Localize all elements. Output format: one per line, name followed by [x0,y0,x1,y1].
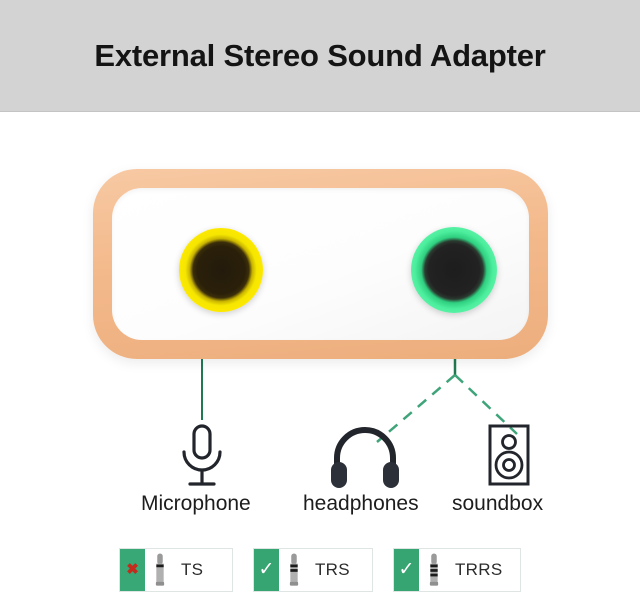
plug-trs-icon [279,549,309,591]
plug-compatibility-legend: ✖ TS ✓ TRS [0,541,640,598]
adapter-front-panel [112,188,529,340]
status-mark-ts: ✖ [120,549,145,591]
plug-ts-icon [145,549,175,591]
audio-output-jack-port [411,227,497,313]
plug-trrs-icon [419,549,449,591]
check-icon: ✓ [259,560,275,579]
legend-item-trs[interactable]: ✓ TRS [253,548,373,592]
legend-item-ts[interactable]: ✖ TS [119,548,233,592]
microphone-icon [162,422,242,492]
legend-item-trrs[interactable]: ✓ TRRS [393,548,521,592]
device-label-headphones: headphones [303,492,419,516]
sound-adapter-device [93,169,548,359]
cross-icon: ✖ [126,562,139,577]
speaker-icon [468,422,548,492]
product-illustration: Microphone headphones soundbox [0,112,640,535]
legend-label-ts: TS [175,549,219,591]
status-mark-trrs: ✓ [394,549,419,591]
status-mark-trs: ✓ [254,549,279,591]
check-icon: ✓ [399,560,415,579]
headphones-icon [325,424,405,494]
device-label-microphone: Microphone [141,492,251,516]
legend-label-trrs: TRRS [449,549,518,591]
microphone-jack-port [179,228,263,312]
legend-label-trs: TRS [309,549,366,591]
device-label-soundbox: soundbox [452,492,543,516]
page-title: External Stereo Sound Adapter [0,0,640,112]
